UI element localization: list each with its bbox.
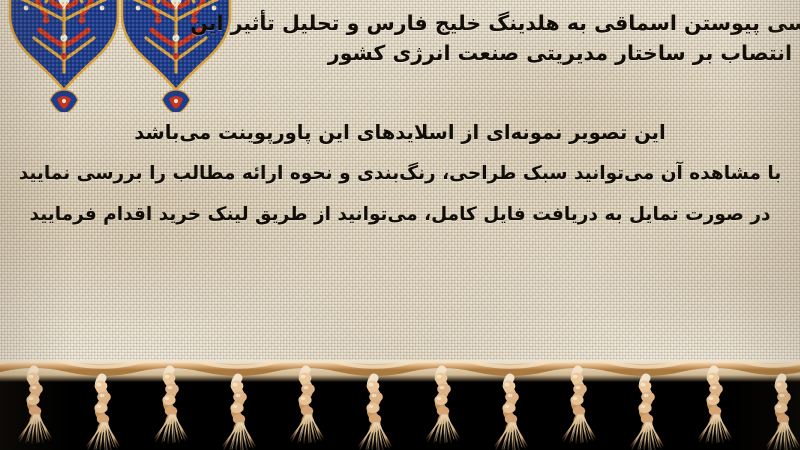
body-line-3: در صورت تمایل به دریافت فایل کامل، می‌تو… — [0, 194, 800, 235]
title-line-1: سی پیوستن اسماقی به هلدینگ خلیج فارس و ت… — [0, 8, 800, 38]
body-line-1: این تصویر نمونه‌ای از اسلایدهای این پاور… — [0, 112, 800, 153]
body-line-2: با مشاهده آن می‌توانید سبک طراحی، رنگ‌بن… — [0, 153, 800, 194]
slide-canvas: سی پیوستن اسماقی به هلدینگ خلیج فارس و ت… — [0, 0, 800, 450]
title-line-2: انتصاب بر ساختار مدیریتی صنعت انرژی کشور — [0, 38, 798, 68]
slide-body: این تصویر نمونه‌ای از اسلایدهای این پاور… — [0, 112, 800, 235]
carpet-fringe-band — [0, 360, 800, 450]
slide-title: سی پیوستن اسماقی به هلدینگ خلیج فارس و ت… — [0, 8, 800, 68]
text-layer: سی پیوستن اسماقی به هلدینگ خلیج فارس و ت… — [0, 0, 800, 378]
